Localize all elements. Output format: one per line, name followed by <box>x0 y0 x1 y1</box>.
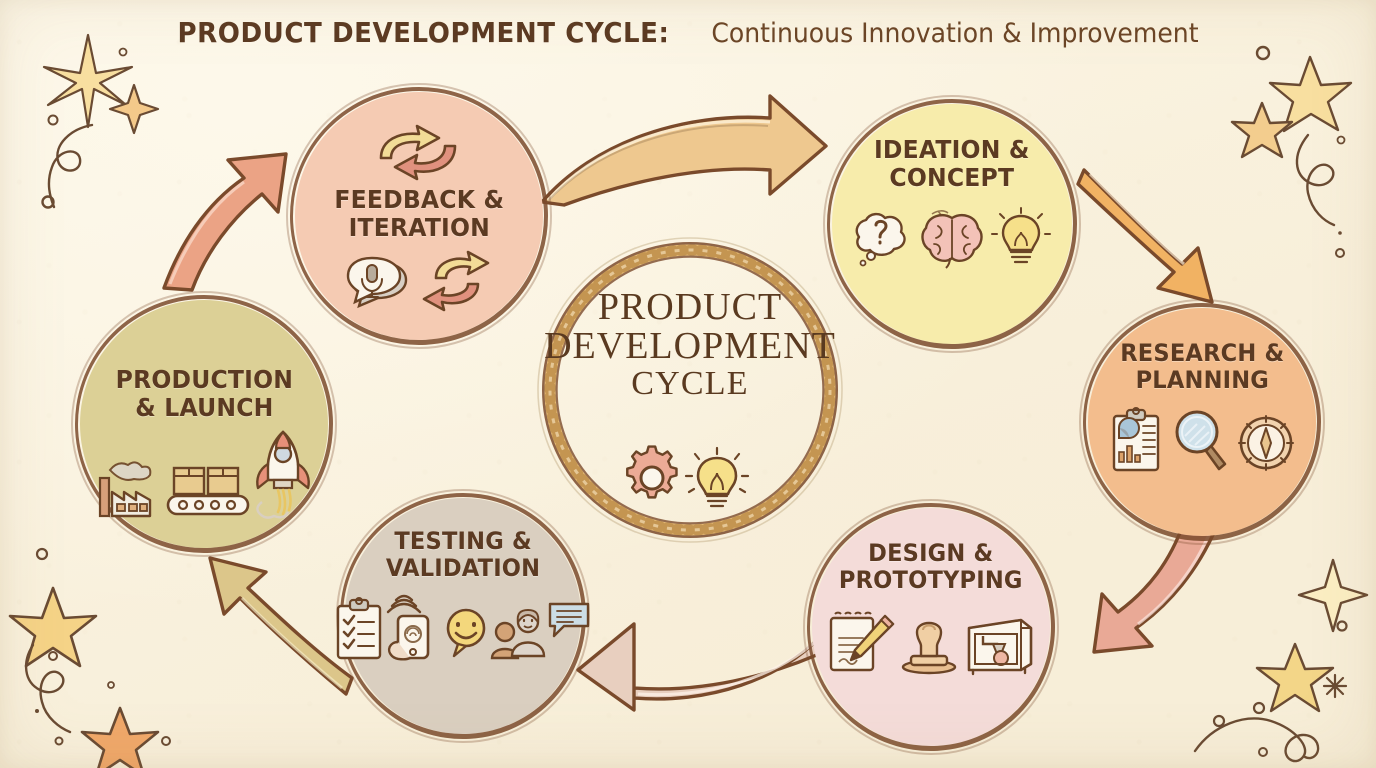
decoration-bottom-right <box>1195 525 1376 768</box>
smiley-icon <box>444 608 488 660</box>
production-icons <box>94 428 314 520</box>
arrow-design-to-testing <box>572 618 837 713</box>
people-icon <box>490 600 544 660</box>
factory-icon <box>94 452 166 520</box>
node-testing-validation[interactable]: TESTING & VALIDATION <box>345 498 581 734</box>
thought-bubble-question-icon <box>852 208 914 268</box>
speech-mic-icon <box>348 254 418 310</box>
node-research-planning[interactable]: RESEARCH & PLANNING <box>1088 308 1316 536</box>
node-label: FEEDBACK & ITERATION <box>334 186 504 242</box>
center-hub: PRODUCT DEVELOPMENT CYCLE <box>534 234 846 546</box>
testing-icons <box>334 594 592 660</box>
node-outline-sketch <box>58 278 350 570</box>
center-icons <box>534 446 846 512</box>
magnifier-icon <box>1171 408 1231 472</box>
node-ideation-concept[interactable]: IDEATION & CONCEPT <box>832 104 1072 344</box>
node-label: TESTING & VALIDATION <box>386 528 540 582</box>
node-label: DESIGN & PROTOTYPING <box>839 540 1023 594</box>
center-line-2: DEVELOPMENT <box>534 327 846 366</box>
node-design-prototyping[interactable]: DESIGN & PROTOTYPING <box>812 508 1050 746</box>
arrow-research-to-design <box>1048 522 1223 657</box>
arrow-feedback-to-ideation <box>534 90 834 205</box>
research-icons <box>1109 408 1295 472</box>
3d-printer-icon <box>963 612 1035 674</box>
refresh-arrows-icon <box>363 124 475 182</box>
design-icons <box>827 606 1035 674</box>
decoration-bottom-left <box>8 530 188 766</box>
title-subtitle: Continuous Innovation & Improvement <box>711 18 1198 49</box>
node-label: IDEATION & CONCEPT <box>874 136 1030 192</box>
clipboard-chart-icon <box>1109 408 1165 472</box>
checklist-clipboard-icon <box>334 598 384 660</box>
decoration-top-left <box>10 25 180 240</box>
compass-icon <box>1237 414 1295 472</box>
center-line-1: PRODUCT <box>534 288 846 327</box>
center-title: PRODUCT DEVELOPMENT CYCLE <box>534 288 846 402</box>
feedback-icons-bottom <box>348 252 490 310</box>
node-label: RESEARCH & PLANNING <box>1120 340 1284 394</box>
conveyor-boxes-icon <box>166 458 252 520</box>
decoration-top-right <box>1222 25 1376 275</box>
node-production-launch[interactable]: PRODUCTION & LAUNCH <box>80 300 328 548</box>
center-line-3: CYCLE <box>534 366 846 403</box>
brain-icon <box>920 210 984 268</box>
title-main: PRODUCT DEVELOPMENT CYCLE: <box>178 16 670 49</box>
lightbulb-icon <box>990 206 1052 268</box>
ideation-icons <box>852 206 1052 268</box>
chat-bubble-icon <box>546 600 592 640</box>
cycle-arrows-icon <box>424 252 490 310</box>
gear-icon <box>627 447 676 498</box>
stamp-icon <box>899 612 959 674</box>
notepad-pencil-icon <box>827 606 895 674</box>
feedback-icons-top <box>363 124 475 182</box>
page-title: PRODUCT DEVELOPMENT CYCLE: Continuous In… <box>0 16 1376 49</box>
node-feedback-iteration[interactable]: FEEDBACK & ITERATION <box>295 92 543 340</box>
infographic-canvas: PRODUCT DEVELOPMENT CYCLE: Continuous In… <box>0 0 1376 768</box>
arrow-production-to-feedback <box>158 148 308 293</box>
node-label: PRODUCTION & LAUNCH <box>115 366 292 422</box>
rocket-icon <box>252 428 314 520</box>
arrow-testing-to-production <box>186 548 356 698</box>
lightbulb-icon <box>686 448 748 506</box>
hand-phone-icon <box>386 594 442 660</box>
arrow-ideation-to-research <box>1078 160 1238 305</box>
